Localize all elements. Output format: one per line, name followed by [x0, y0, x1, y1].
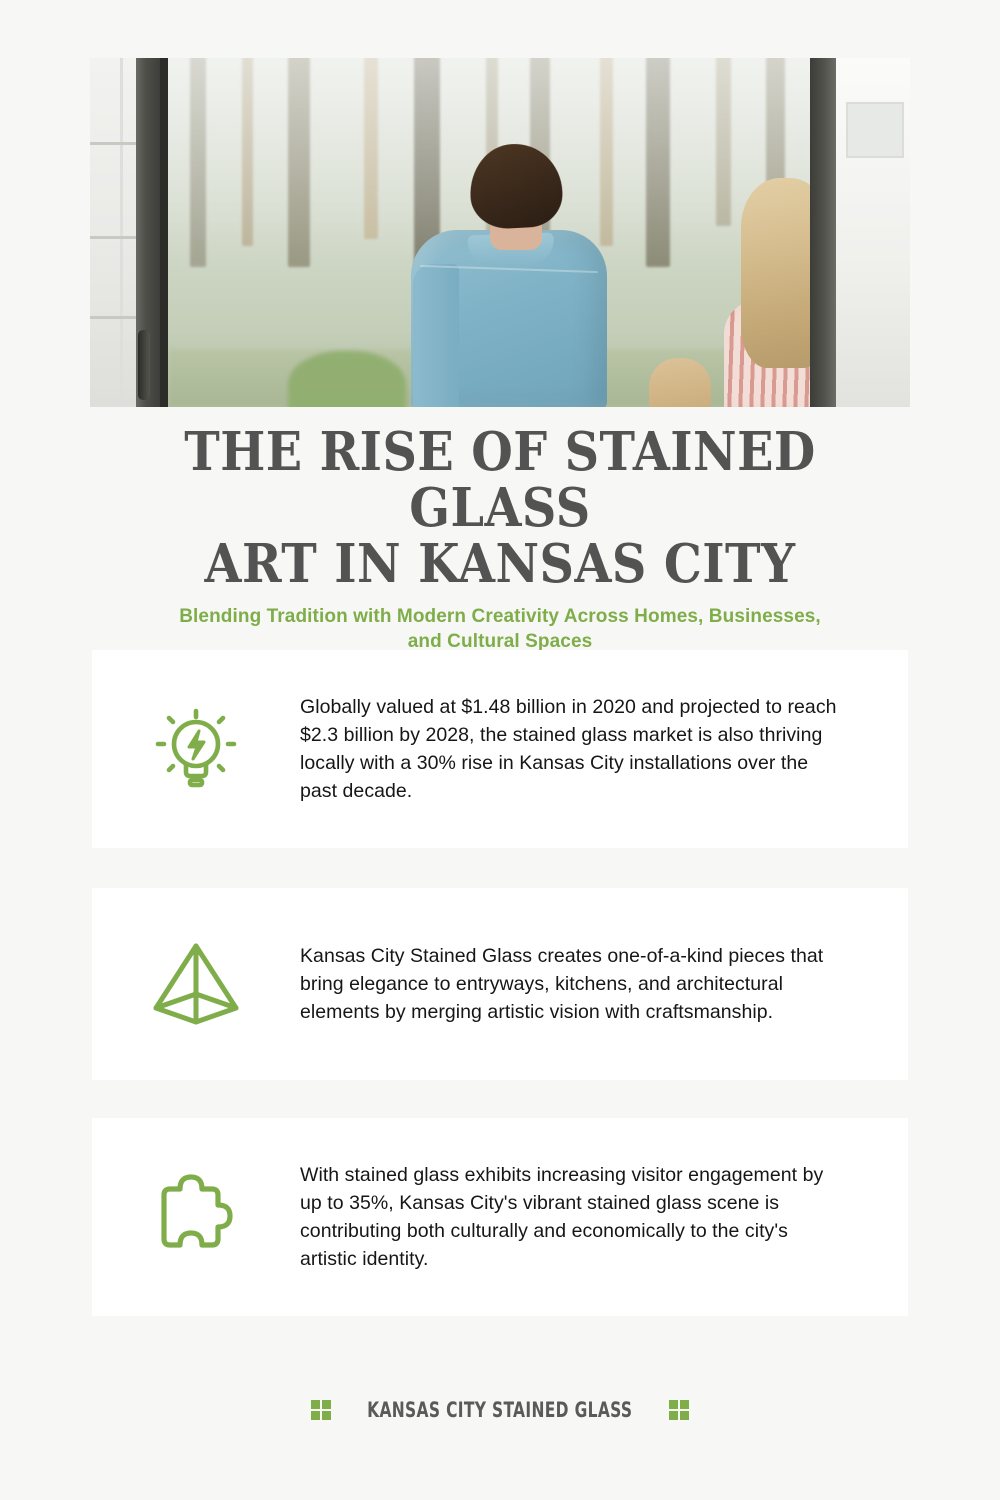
info-card: Globally valued at $1.48 billion in 2020… [92, 650, 908, 848]
man-arm [413, 264, 459, 407]
woman-head [741, 178, 810, 368]
page-subtitle: Blending Tradition with Modern Creativit… [170, 604, 830, 654]
card-text: Globally valued at $1.48 billion in 2020… [300, 693, 908, 805]
door-frame-right [810, 58, 836, 407]
child-head [649, 358, 711, 407]
door-frame-left-inner [160, 58, 168, 407]
puzzle-piece-icon [148, 1169, 244, 1265]
title-block: THE RISE OF STAINED GLASS ART IN KANSAS … [50, 424, 950, 654]
card-icon-slot [92, 701, 300, 797]
lightbulb-idea-icon [148, 701, 244, 797]
card-text: Kansas City Stained Glass creates one-of… [300, 942, 908, 1026]
door-handle [138, 330, 150, 400]
hero-image [90, 58, 910, 407]
info-card: Kansas City Stained Glass creates one-of… [92, 888, 908, 1080]
outdoor-forest-view [168, 58, 810, 407]
logo-square-grid-right-icon [669, 1400, 690, 1421]
card-icon-slot [92, 936, 300, 1032]
logo-square-grid-left-icon [311, 1400, 332, 1421]
interior-wall-left [90, 58, 136, 407]
card-text: With stained glass exhibits increasing v… [300, 1161, 908, 1273]
pyramid-wireframe-icon [148, 936, 244, 1032]
footer-logo: KANSAS CITY STAINED GLASS [0, 1398, 1000, 1422]
page-title-line-1: THE RISE OF STAINED GLASS [184, 421, 815, 539]
page-title-line-2: ART IN KANSAS CITY [204, 533, 795, 595]
card-icon-slot [92, 1169, 300, 1265]
brand-name: KANSAS CITY STAINED GLASS [367, 1398, 632, 1422]
infographic-root: THE RISE OF STAINED GLASS ART IN KANSAS … [0, 0, 1000, 1500]
info-card: With stained glass exhibits increasing v… [92, 1118, 908, 1316]
exterior-window [846, 102, 904, 158]
page-title: THE RISE OF STAINED GLASS ART IN KANSAS … [95, 424, 905, 592]
hero-photo-illustration [90, 58, 910, 407]
exterior-wall-right [836, 58, 910, 407]
